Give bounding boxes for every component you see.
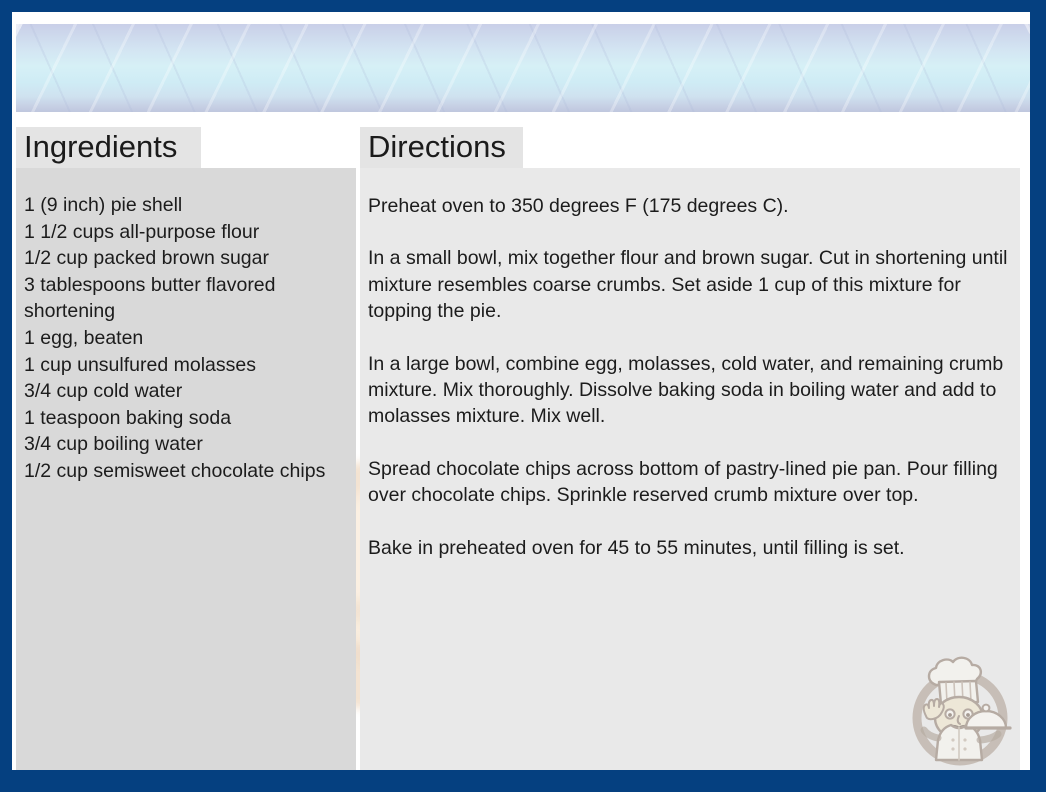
ingredient-item: 3/4 cup cold water	[24, 378, 334, 405]
ingredients-heading: Ingredients	[24, 128, 177, 166]
header-banner	[16, 24, 1030, 112]
ingredient-item: 1 cup unsulfured molasses	[24, 352, 334, 379]
ingredient-item: 3/4 cup boiling water	[24, 431, 334, 458]
direction-step: Spread chocolate chips across bottom of …	[368, 456, 1013, 509]
ingredient-item: 1 1/2 cups all-purpose flour	[24, 219, 334, 246]
ingredients-list: 1 (9 inch) pie shell1 1/2 cups all-purpo…	[24, 192, 334, 485]
direction-step: In a large bowl, combine egg, molasses, …	[368, 351, 1013, 430]
directions-body: Preheat oven to 350 degrees F (175 degre…	[368, 193, 1013, 561]
ingredient-item: 1 egg, beaten	[24, 325, 334, 352]
frame-border-top	[0, 0, 1046, 12]
ingredient-item: 1/2 cup packed brown sugar	[24, 245, 334, 272]
direction-step: Bake in preheated oven for 45 to 55 minu…	[368, 535, 1013, 561]
ingredient-item: 1 (9 inch) pie shell	[24, 192, 334, 219]
frame-border-bottom	[0, 770, 1046, 792]
banner-texture	[16, 24, 1030, 112]
recipe-card: Chocolate Shoofly Pie	[0, 0, 1046, 792]
ingredient-item: 1 teaspoon baking soda	[24, 405, 334, 432]
ingredient-item: 1/2 cup semisweet chocolate chips	[24, 458, 334, 485]
frame-border-left	[0, 0, 12, 792]
directions-heading: Directions	[368, 128, 506, 166]
direction-step: Preheat oven to 350 degrees F (175 degre…	[368, 193, 1013, 219]
direction-step: In a small bowl, mix together flour and …	[368, 245, 1013, 324]
frame-border-right	[1030, 0, 1046, 792]
ingredient-item: 3 tablespoons butter flavored shortening	[24, 272, 334, 325]
